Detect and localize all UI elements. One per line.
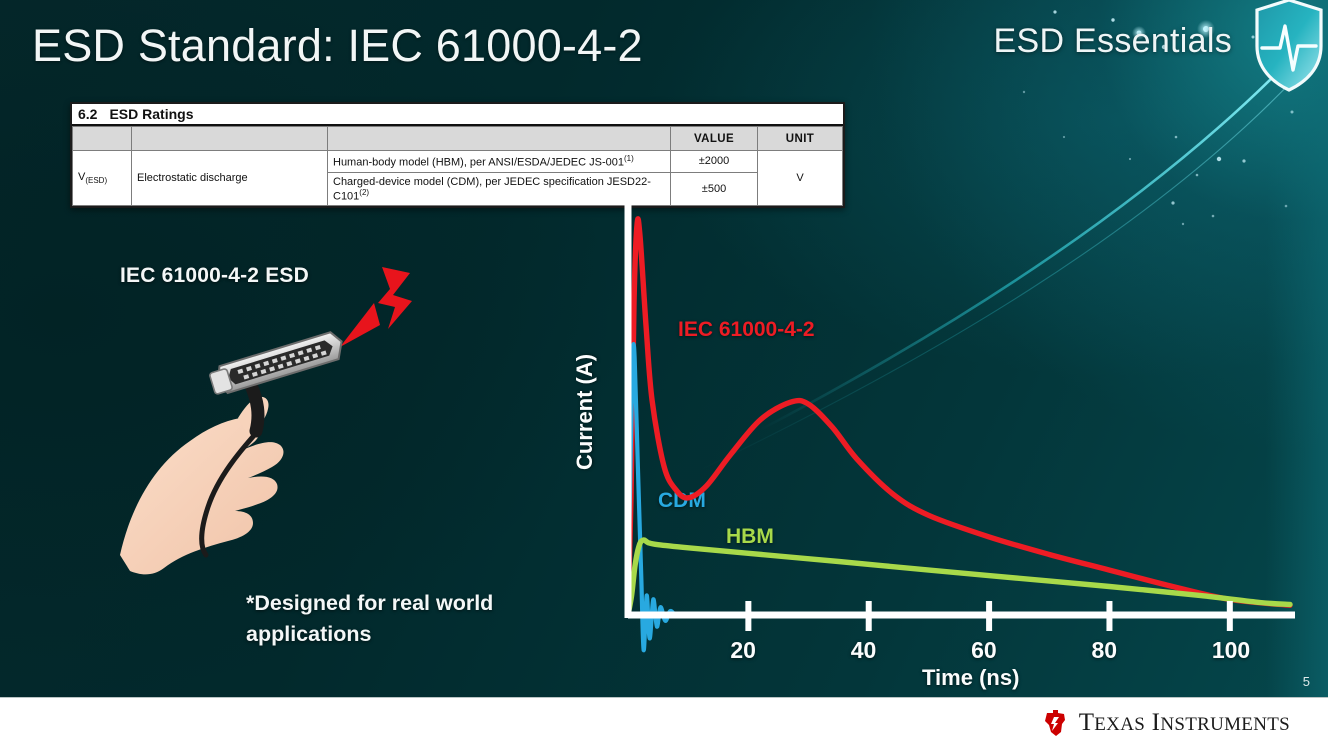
design-note-line2: applications: [246, 619, 493, 650]
chart-x-tick-label: 60: [971, 637, 997, 664]
design-note-line1: *Designed for real world: [246, 588, 493, 619]
footnote-marker: (2): [359, 188, 369, 197]
esd-shield-icon: [1250, 0, 1328, 96]
brand-label: ESD Essentials: [993, 22, 1232, 61]
cell-parameter: Electrostatic discharge: [132, 151, 328, 206]
ti-logo: TEXAS INSTRUMENTS: [1040, 708, 1290, 738]
chart-x-tick-label: 80: [1091, 637, 1117, 664]
description-text: Human-body model (HBM), per ANSI/ESDA/JE…: [333, 157, 624, 169]
chart-series-hbm: [628, 540, 1290, 615]
ti-instruments-rest: NSTRUMENTS: [1160, 714, 1290, 735]
cell-symbol: V(ESD): [73, 151, 132, 206]
header-description-cell: [328, 127, 671, 151]
design-note: *Designed for real world applications: [246, 588, 493, 650]
chart-x-tick-label: 20: [730, 637, 756, 664]
header-value: VALUE: [671, 127, 758, 151]
chart-series-iec-61000-4-2: [628, 219, 1290, 615]
table-section-heading: 6.2ESD Ratings: [72, 104, 843, 126]
symbol-subscript: (ESD): [85, 176, 107, 185]
table-header-row: VALUE UNIT: [73, 127, 843, 151]
section-title: ESD Ratings: [109, 106, 193, 122]
esd-waveform-chart: [560, 195, 1305, 695]
header-parameter-cell: [132, 127, 328, 151]
section-number: 6.2: [78, 106, 97, 122]
esd-ratings-table: 6.2ESD Ratings VALUE UNIT V(ESD) Electro…: [70, 102, 845, 208]
page-title: ESD Standard: IEC 61000-4-2: [32, 20, 643, 72]
lightning-bolt-icon: [378, 267, 412, 329]
ti-texas-t: T: [1079, 709, 1095, 736]
slide-root: ESD Standard: IEC 61000-4-2 ESD Essentia…: [0, 0, 1328, 746]
chart-x-tick-label: 100: [1212, 637, 1250, 664]
ti-texas-rest: EXAS: [1094, 714, 1145, 735]
page-number: 5: [1303, 674, 1310, 689]
ti-wordmark: TEXAS INSTRUMENTS: [1079, 709, 1290, 737]
cell-description: Human-body model (HBM), per ANSI/ESDA/JE…: [328, 151, 671, 173]
ti-texas-logo-icon: [1040, 708, 1070, 738]
header-symbol-cell: [73, 127, 132, 151]
footnote-marker: (1): [624, 154, 634, 163]
header-unit: UNIT: [758, 127, 843, 151]
table-row: V(ESD) Electrostatic discharge Human-bod…: [73, 151, 843, 173]
chart-x-tick-label: 40: [851, 637, 877, 664]
cell-value: ±2000: [671, 151, 758, 173]
hand-holding-hdmi-connector-icon: [90, 255, 435, 575]
